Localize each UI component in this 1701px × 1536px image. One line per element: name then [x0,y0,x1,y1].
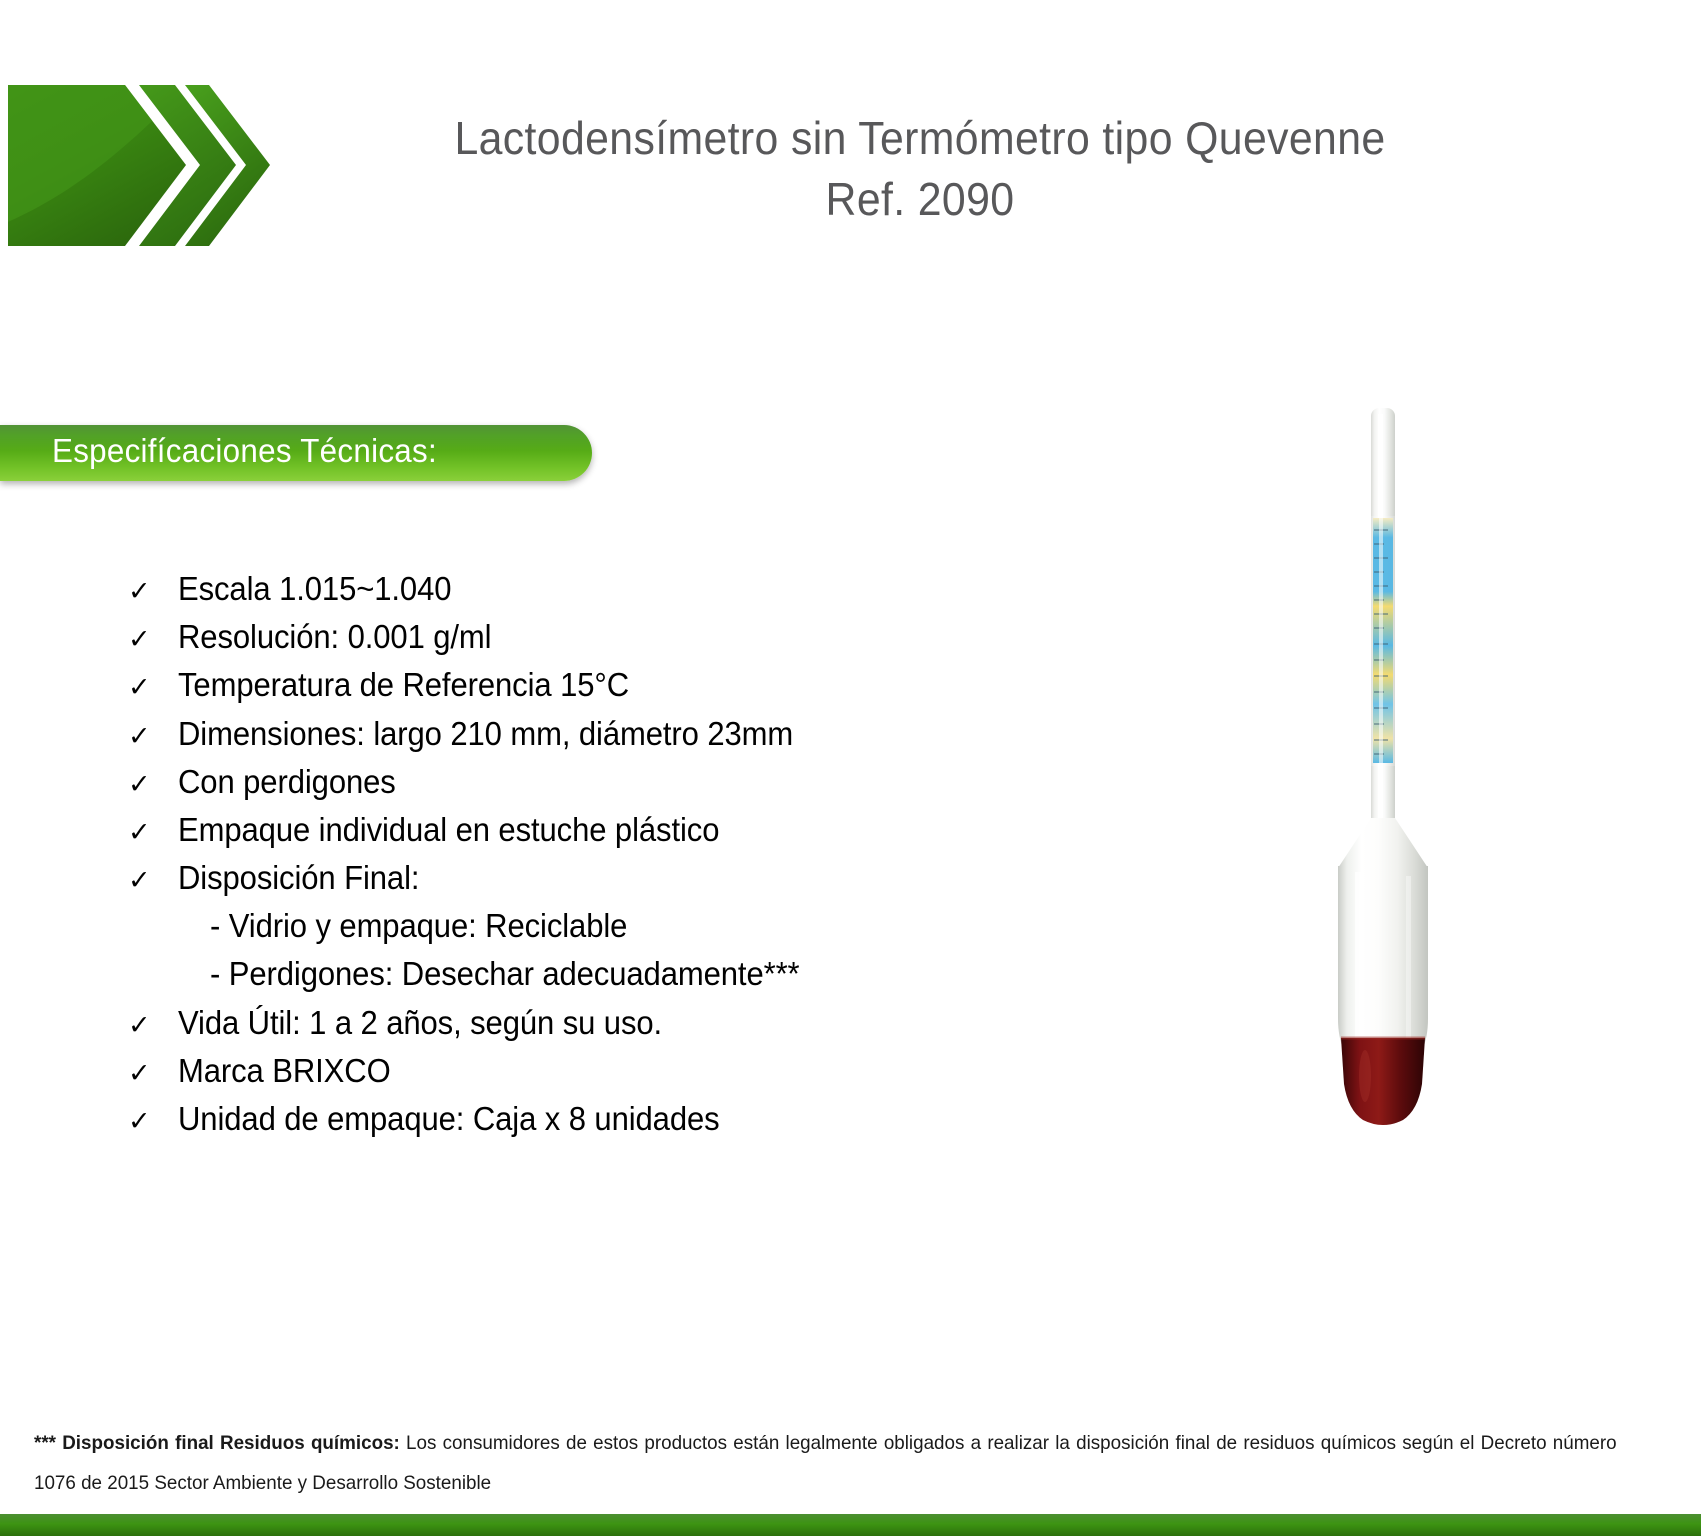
spec-list-item-label: Marca BRIXCO [178,1047,391,1095]
spec-list-item-label: Con perdigones [178,758,396,806]
footer-disclaimer-bold: *** Disposición final Residuos químicos: [34,1432,400,1454]
checkmark-icon: ✓ [128,1102,178,1141]
checkmark-icon: ✓ [128,668,178,707]
spec-list-item-label: Vida Útil: 1 a 2 años, según su uso. [178,999,662,1047]
checkmark-icon: ✓ [128,861,178,900]
lactodensimeter-hydrometer-image [1318,398,1448,1128]
footer-disclaimer: *** Disposición final Residuos químicos:… [34,1424,1617,1504]
page-title: Lactodensímetro sin Termómetro tipo Quev… [371,108,1468,229]
spec-list-item-label: - Perdigones: Desechar adecuadamente*** [210,950,800,998]
spec-list-item-label: Empaque individual en estuche plástico [178,806,719,854]
checkmark-icon: ✓ [128,717,178,756]
spec-list-item: ✓Resolución: 0.001 g/ml [128,613,1088,661]
spec-list-item: ✓Escala 1.015~1.040 [128,565,1088,613]
spec-list-item-label: Unidad de empaque: Caja x 8 unidades [178,1095,720,1143]
spec-list-item: ✓Vida Útil: 1 a 2 años, según su uso. [128,999,1088,1047]
page-title-line-2: Ref. 2090 [371,169,1468,230]
page-title-line-1: Lactodensímetro sin Termómetro tipo Quev… [371,108,1468,169]
checkmark-icon: ✓ [128,765,178,804]
spec-list-item: ✓Empaque individual en estuche plástico [128,806,1088,854]
technical-specs-list: ✓Escala 1.015~1.040✓Resolución: 0.001 g/… [128,565,1088,1143]
spec-list-item-label: Escala 1.015~1.040 [178,565,451,613]
technical-specs-banner-label: Especifícaciones Técnicas: [52,432,437,470]
spec-list-item-label: Resolución: 0.001 g/ml [178,613,491,661]
spec-list-item: ✓Dimensiones: largo 210 mm, diámetro 23m… [128,710,1088,758]
spec-list-item: - Perdigones: Desechar adecuadamente*** [128,950,1088,998]
spec-list-item: ✓Temperatura de Referencia 15°C [128,661,1088,709]
checkmark-icon: ✓ [128,813,178,852]
spec-list-item: ✓Unidad de empaque: Caja x 8 unidades [128,1095,1088,1143]
spec-list-item: - Vidrio y empaque: Reciclable [128,902,1088,950]
spec-list-item: ✓Marca BRIXCO [128,1047,1088,1095]
checkmark-icon: ✓ [128,572,178,611]
spec-list-item-label: Temperatura de Referencia 15°C [178,661,629,709]
spec-list-item-label: Disposición Final: [178,854,419,902]
spec-list-item: ✓Disposición Final: [128,854,1088,902]
brixco-chevron-logo [8,58,308,273]
technical-specs-banner: Especifícaciones Técnicas: [0,425,592,481]
spec-list-item: ✓Con perdigones [128,758,1088,806]
checkmark-icon: ✓ [128,1006,178,1045]
spec-list-item-label: - Vidrio y empaque: Reciclable [210,902,627,950]
checkmark-icon: ✓ [128,620,178,659]
spec-list-item-label: Dimensiones: largo 210 mm, diámetro 23mm [178,710,793,758]
footer-green-bar [0,1514,1701,1536]
checkmark-icon: ✓ [128,1054,178,1093]
